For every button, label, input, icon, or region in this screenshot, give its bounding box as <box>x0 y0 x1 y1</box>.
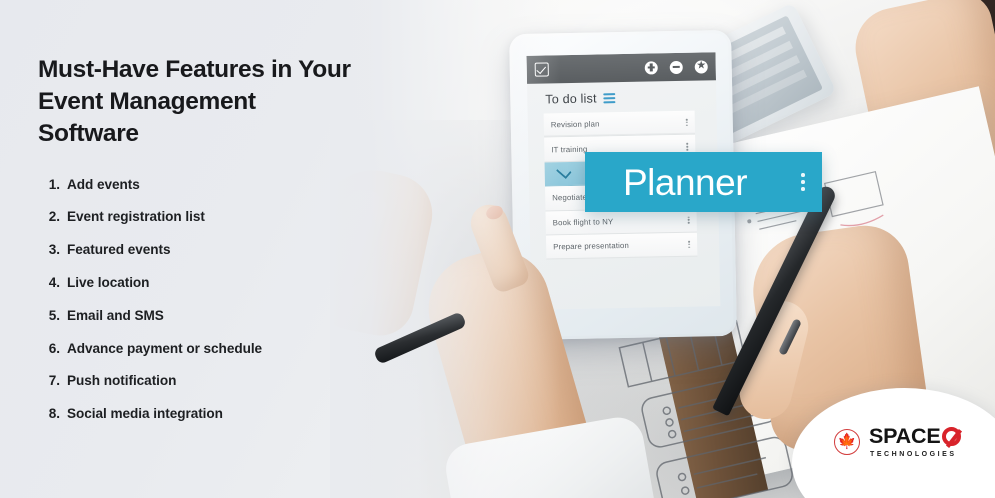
content-panel: Must-Have Features in Your Event Managem… <box>0 0 360 498</box>
list-item[interactable]: Revision plan <box>544 111 695 138</box>
plus-circle-icon[interactable] <box>645 61 658 74</box>
list-item: 2. Event registration list <box>38 209 360 224</box>
list-item-label: Book flight to NY <box>553 217 614 227</box>
list-item-label: Push notification <box>67 373 176 388</box>
list-lines-icon[interactable] <box>604 93 616 104</box>
list-item-number: 1. <box>38 177 60 192</box>
vertical-dots-icon[interactable] <box>686 119 688 126</box>
brand-tagline: TECHNOLOGIES <box>870 451 961 458</box>
o-slash-mark-icon <box>942 427 961 446</box>
planner-banner: Planner <box>585 152 822 212</box>
list-item-number: 2. <box>38 209 60 224</box>
list-item[interactable]: Prepare presentation <box>546 233 697 260</box>
minus-circle-icon[interactable] <box>670 60 683 73</box>
feature-list: 1. Add events 2. Event registration list… <box>38 177 360 422</box>
brand-logo[interactable]: 🍁 SPACE TECHNOLOGIES <box>834 426 961 458</box>
list-item-label: Email and SMS <box>67 308 164 323</box>
list-item-label: Event registration list <box>67 209 205 224</box>
brand-name: SPACE <box>869 426 940 448</box>
list-item-label: Prepare presentation <box>553 241 629 251</box>
list-item-number: 8. <box>38 406 60 421</box>
list-item: 6. Advance payment or schedule <box>38 341 360 356</box>
list-item-number: 5. <box>38 308 60 323</box>
list-item: 4. Live location <box>38 275 360 290</box>
list-item: 1. Add events <box>38 177 360 192</box>
list-item-label: Featured events <box>67 242 171 257</box>
list-item-label: Add events <box>67 177 140 192</box>
list-item-number: 3. <box>38 242 60 257</box>
list-item: 8. Social media integration <box>38 406 360 421</box>
list-item-label: Live location <box>67 275 149 290</box>
banner-graphic: To do list Revision plan IT training <box>0 0 995 498</box>
list-item: 3. Featured events <box>38 242 360 257</box>
planner-banner-label: Planner <box>623 164 747 201</box>
vertical-dots-icon[interactable] <box>688 216 690 223</box>
vertical-dots-icon[interactable] <box>687 143 689 150</box>
list-item: 5. Email and SMS <box>38 308 360 323</box>
star-circle-icon[interactable] <box>695 60 708 73</box>
list-item-label: Social media integration <box>67 406 223 421</box>
list-item: 7. Push notification <box>38 373 360 388</box>
maple-leaf-icon: 🍁 <box>834 429 860 455</box>
list-item-number: 4. <box>38 275 60 290</box>
photo-fade-overlay <box>330 0 560 498</box>
vertical-dots-icon[interactable] <box>801 173 805 191</box>
list-item-number: 6. <box>38 341 60 356</box>
list-item-label: Advance payment or schedule <box>67 341 262 356</box>
list-item-number: 7. <box>38 373 60 388</box>
list-item[interactable]: Book flight to NY <box>545 208 696 235</box>
page-title: Must-Have Features in Your Event Managem… <box>38 54 360 150</box>
vertical-dots-icon[interactable] <box>688 241 690 248</box>
